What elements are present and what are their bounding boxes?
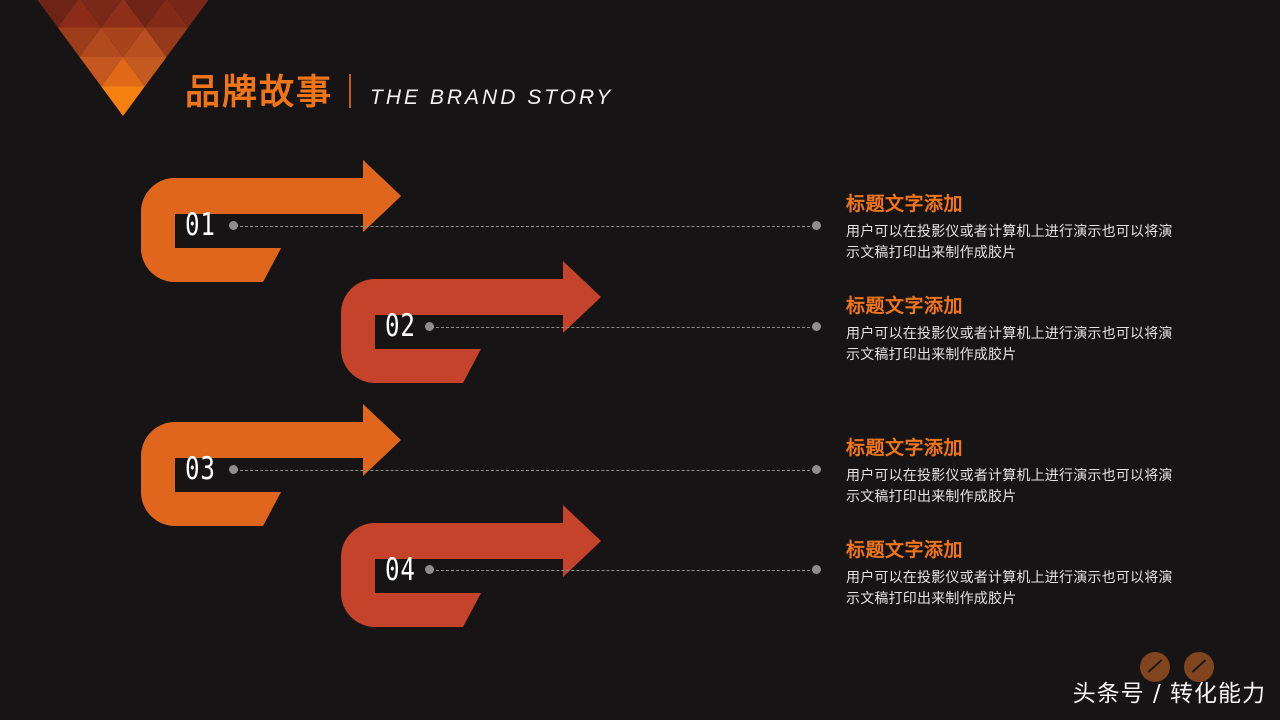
title-english: THE BRAND STORY [370,86,613,110]
connector-dash-03 [235,470,815,471]
step-text-block-04: 标题文字添加 用户可以在投影仪或者计算机上进行演示也可以将演示文稿打印出来制作成… [846,535,1176,611]
step-number-03: 03 [185,454,216,485]
watermark: 头条号 / 转化能力 [1073,674,1266,708]
step-text-block-03: 标题文字添加 用户可以在投影仪或者计算机上进行演示也可以将演示文稿打印出来制作成… [846,433,1176,509]
connector-dash-01 [235,226,815,227]
step-number-01: 01 [185,210,216,241]
connector-line-04 [425,565,821,576]
connector-dot-right-02 [812,322,821,331]
slide-canvas: 品牌故事 THE BRAND STORY 01 标题文字添加 用户可以在投影仪或… [0,0,1280,720]
connector-dash-04 [431,570,815,571]
watermark-slash-2 [1192,659,1207,673]
title-chinese: 品牌故事 [185,76,333,111]
connector-dash-02 [431,327,815,328]
inverted-triangle-mosaic-logo [36,0,210,116]
step-body-03: 用户可以在投影仪或者计算机上进行演示也可以将演示文稿打印出来制作成胶片 [846,466,1176,509]
connector-dot-right-03 [812,465,821,474]
connector-dot-right-04 [812,565,821,574]
watermark-text: 头条号 / 转化能力 [1073,674,1266,708]
step-number-04: 04 [385,555,416,586]
connector-line-03 [229,465,821,476]
connector-line-01 [229,221,821,232]
connector-dot-right-01 [812,221,821,230]
step-text-block-01: 标题文字添加 用户可以在投影仪或者计算机上进行演示也可以将演示文稿打印出来制作成… [846,189,1176,265]
step-body-04: 用户可以在投影仪或者计算机上进行演示也可以将演示文稿打印出来制作成胶片 [846,568,1176,611]
title-divider [349,74,351,108]
step-number-02: 02 [385,311,416,342]
step-body-01: 用户可以在投影仪或者计算机上进行演示也可以将演示文稿打印出来制作成胶片 [846,222,1176,265]
step-body-02: 用户可以在投影仪或者计算机上进行演示也可以将演示文稿打印出来制作成胶片 [846,324,1176,367]
step-text-block-02: 标题文字添加 用户可以在投影仪或者计算机上进行演示也可以将演示文稿打印出来制作成… [846,291,1176,367]
connector-line-02 [425,322,821,333]
step-title-04: 标题文字添加 [846,535,1176,562]
page-title: 品牌故事 THE BRAND STORY [185,70,613,111]
step-title-02: 标题文字添加 [846,291,1176,318]
step-title-01: 标题文字添加 [846,189,1176,216]
watermark-slash-1 [1148,659,1163,673]
step-title-03: 标题文字添加 [846,433,1176,460]
